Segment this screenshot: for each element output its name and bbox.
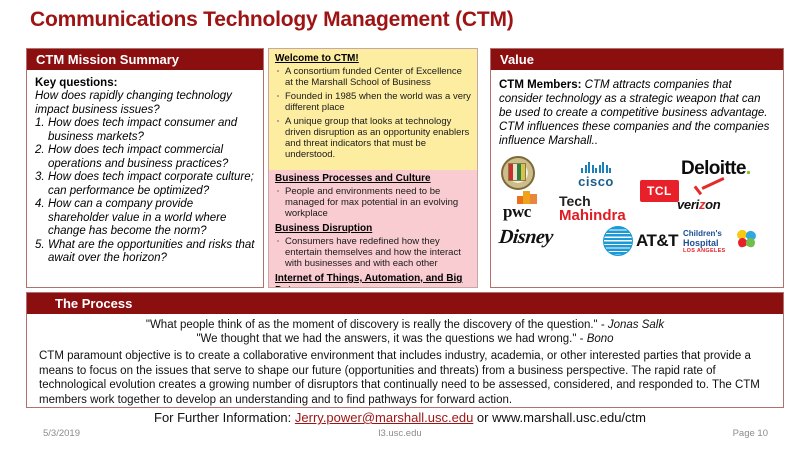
list-item: What are the opportunities and risks tha… <box>35 239 255 266</box>
deloitte-logo: Deloitte. <box>681 158 751 180</box>
process-quotes: "What people think of as the moment of d… <box>27 314 783 348</box>
value-panel-header: Value <box>491 49 783 70</box>
page-title: Communications Technology Management (CT… <box>30 8 514 32</box>
footer-page-number: Page 10 <box>733 428 768 439</box>
process-panel-header: The Process <box>27 293 783 314</box>
quote-2-text: "We thought that we had the answers, it … <box>196 333 586 345</box>
mission-panel-header: CTM Mission Summary <box>27 49 263 70</box>
contact-suffix: or www.marshall.usc.edu/ctm <box>473 410 646 425</box>
att-wordmark: AT&T <box>636 231 678 250</box>
att-globe-icon <box>603 226 633 256</box>
deloitte-dot-icon: . <box>746 158 751 179</box>
quote-1-text: "What people think of as the moment of d… <box>146 319 608 331</box>
footer-center-text: l3.usc.edu <box>0 428 800 439</box>
chla-line2: Hospital <box>683 239 726 248</box>
topic-heading-business-disruption: Business Disruption <box>275 223 471 235</box>
tcl-logo: TCL <box>640 180 679 202</box>
verizon-check-icon <box>695 185 725 198</box>
key-questions-label: Key questions: <box>35 77 255 89</box>
chla-line3: LOS ANGELES <box>683 247 726 256</box>
verizon-word-pre: veri <box>677 197 699 212</box>
welcome-bullet-list: A consortium funded Center of Excellence… <box>275 66 471 160</box>
deloitte-wordmark: Deloitte <box>681 158 746 179</box>
list-item: A consortium funded Center of Excellence… <box>275 66 471 88</box>
list-item: People and environments need to be manag… <box>275 186 471 219</box>
topic-bullets-business-processes: People and environments need to be manag… <box>275 186 471 219</box>
topic-bullets-business-disruption: Consumers have redefined how they entert… <box>275 236 471 269</box>
topic-heading-iot: Internet of Things, Automation, and Big … <box>275 273 471 288</box>
welcome-heading: Welcome to CTM! <box>275 53 471 65</box>
list-item: How does tech impact corporate culture; … <box>35 171 255 198</box>
welcome-section: Welcome to CTM! A consortium funded Cent… <box>269 49 477 170</box>
quote-2-attribution: Bono <box>587 333 614 345</box>
slide-canvas: Communications Technology Management (CT… <box>0 0 800 450</box>
ctm-mission-summary-panel: CTM Mission Summary Key questions: How d… <box>26 48 264 288</box>
att-logo: AT&T <box>603 226 678 256</box>
topics-section: Business Processes and Culture People an… <box>269 170 477 288</box>
list-item: How can a company provide shareholder va… <box>35 198 255 239</box>
cisco-bars-icon <box>563 162 629 173</box>
quote-1: "What people think of as the moment of d… <box>27 318 783 332</box>
contact-email-link[interactable]: Jerry.power@marshall.usc.edu <box>295 410 473 425</box>
the-process-panel: The Process "What people think of as the… <box>26 292 784 408</box>
ctm-members-label: CTM Members: <box>499 79 581 91</box>
list-item: Founded in 1985 when the world was a ver… <box>275 91 471 113</box>
verizon-word-post: on <box>705 197 720 212</box>
tech-mahindra-line1: Tech <box>559 194 626 208</box>
tech-mahindra-line2: Mahindra <box>559 208 626 223</box>
value-members-text: CTM Members: CTM attracts companies that… <box>491 70 783 152</box>
cisco-wordmark: cisco <box>563 174 629 189</box>
mission-panel-body: Key questions: How does rapidly changing… <box>27 70 263 270</box>
list-item: How does tech impact commercial operatio… <box>35 144 255 171</box>
chla-butterfly-icon <box>737 230 757 250</box>
topic-heading-business-processes: Business Processes and Culture <box>275 173 471 185</box>
list-item: How does tech impact consumer and busine… <box>35 117 255 144</box>
quote-1-attribution: Jonas Salk <box>608 319 664 331</box>
welcome-to-ctm-panel: Welcome to CTM! A consortium funded Cent… <box>268 48 478 288</box>
list-item: A unique group that looks at technology … <box>275 116 471 160</box>
cisco-logo: cisco <box>563 162 629 189</box>
verizon-logo: verizon <box>677 196 720 214</box>
list-item: Consumers have redefined how they entert… <box>275 236 471 269</box>
contact-line: For Further Information: Jerry.power@mar… <box>0 410 800 425</box>
tech-mahindra-logo: Tech Mahindra <box>559 194 626 223</box>
process-paragraph: CTM paramount objective is to create a c… <box>27 348 783 407</box>
member-logo-wall: pwc Disney cisco Tech Mahindra TCL <box>495 154 779 262</box>
quote-2: "We thought that we had the answers, it … <box>27 332 783 346</box>
childrens-hospital-la-logo: Children's Hospital LOS ANGELES <box>683 230 726 256</box>
pwc-mark-icon <box>517 190 537 204</box>
mission-question-list: How does tech impact consumer and busine… <box>35 117 255 266</box>
pwc-wordmark: pwc <box>503 202 531 221</box>
value-panel: Value CTM Members: CTM attracts companie… <box>490 48 784 288</box>
city-of-los-angeles-seal-icon <box>501 156 535 190</box>
contact-prefix: For Further Information: <box>154 410 295 425</box>
pwc-logo: pwc <box>503 202 531 222</box>
disney-logo: Disney <box>498 226 554 249</box>
mission-lead-text: How does rapidly changing technology imp… <box>35 90 255 117</box>
